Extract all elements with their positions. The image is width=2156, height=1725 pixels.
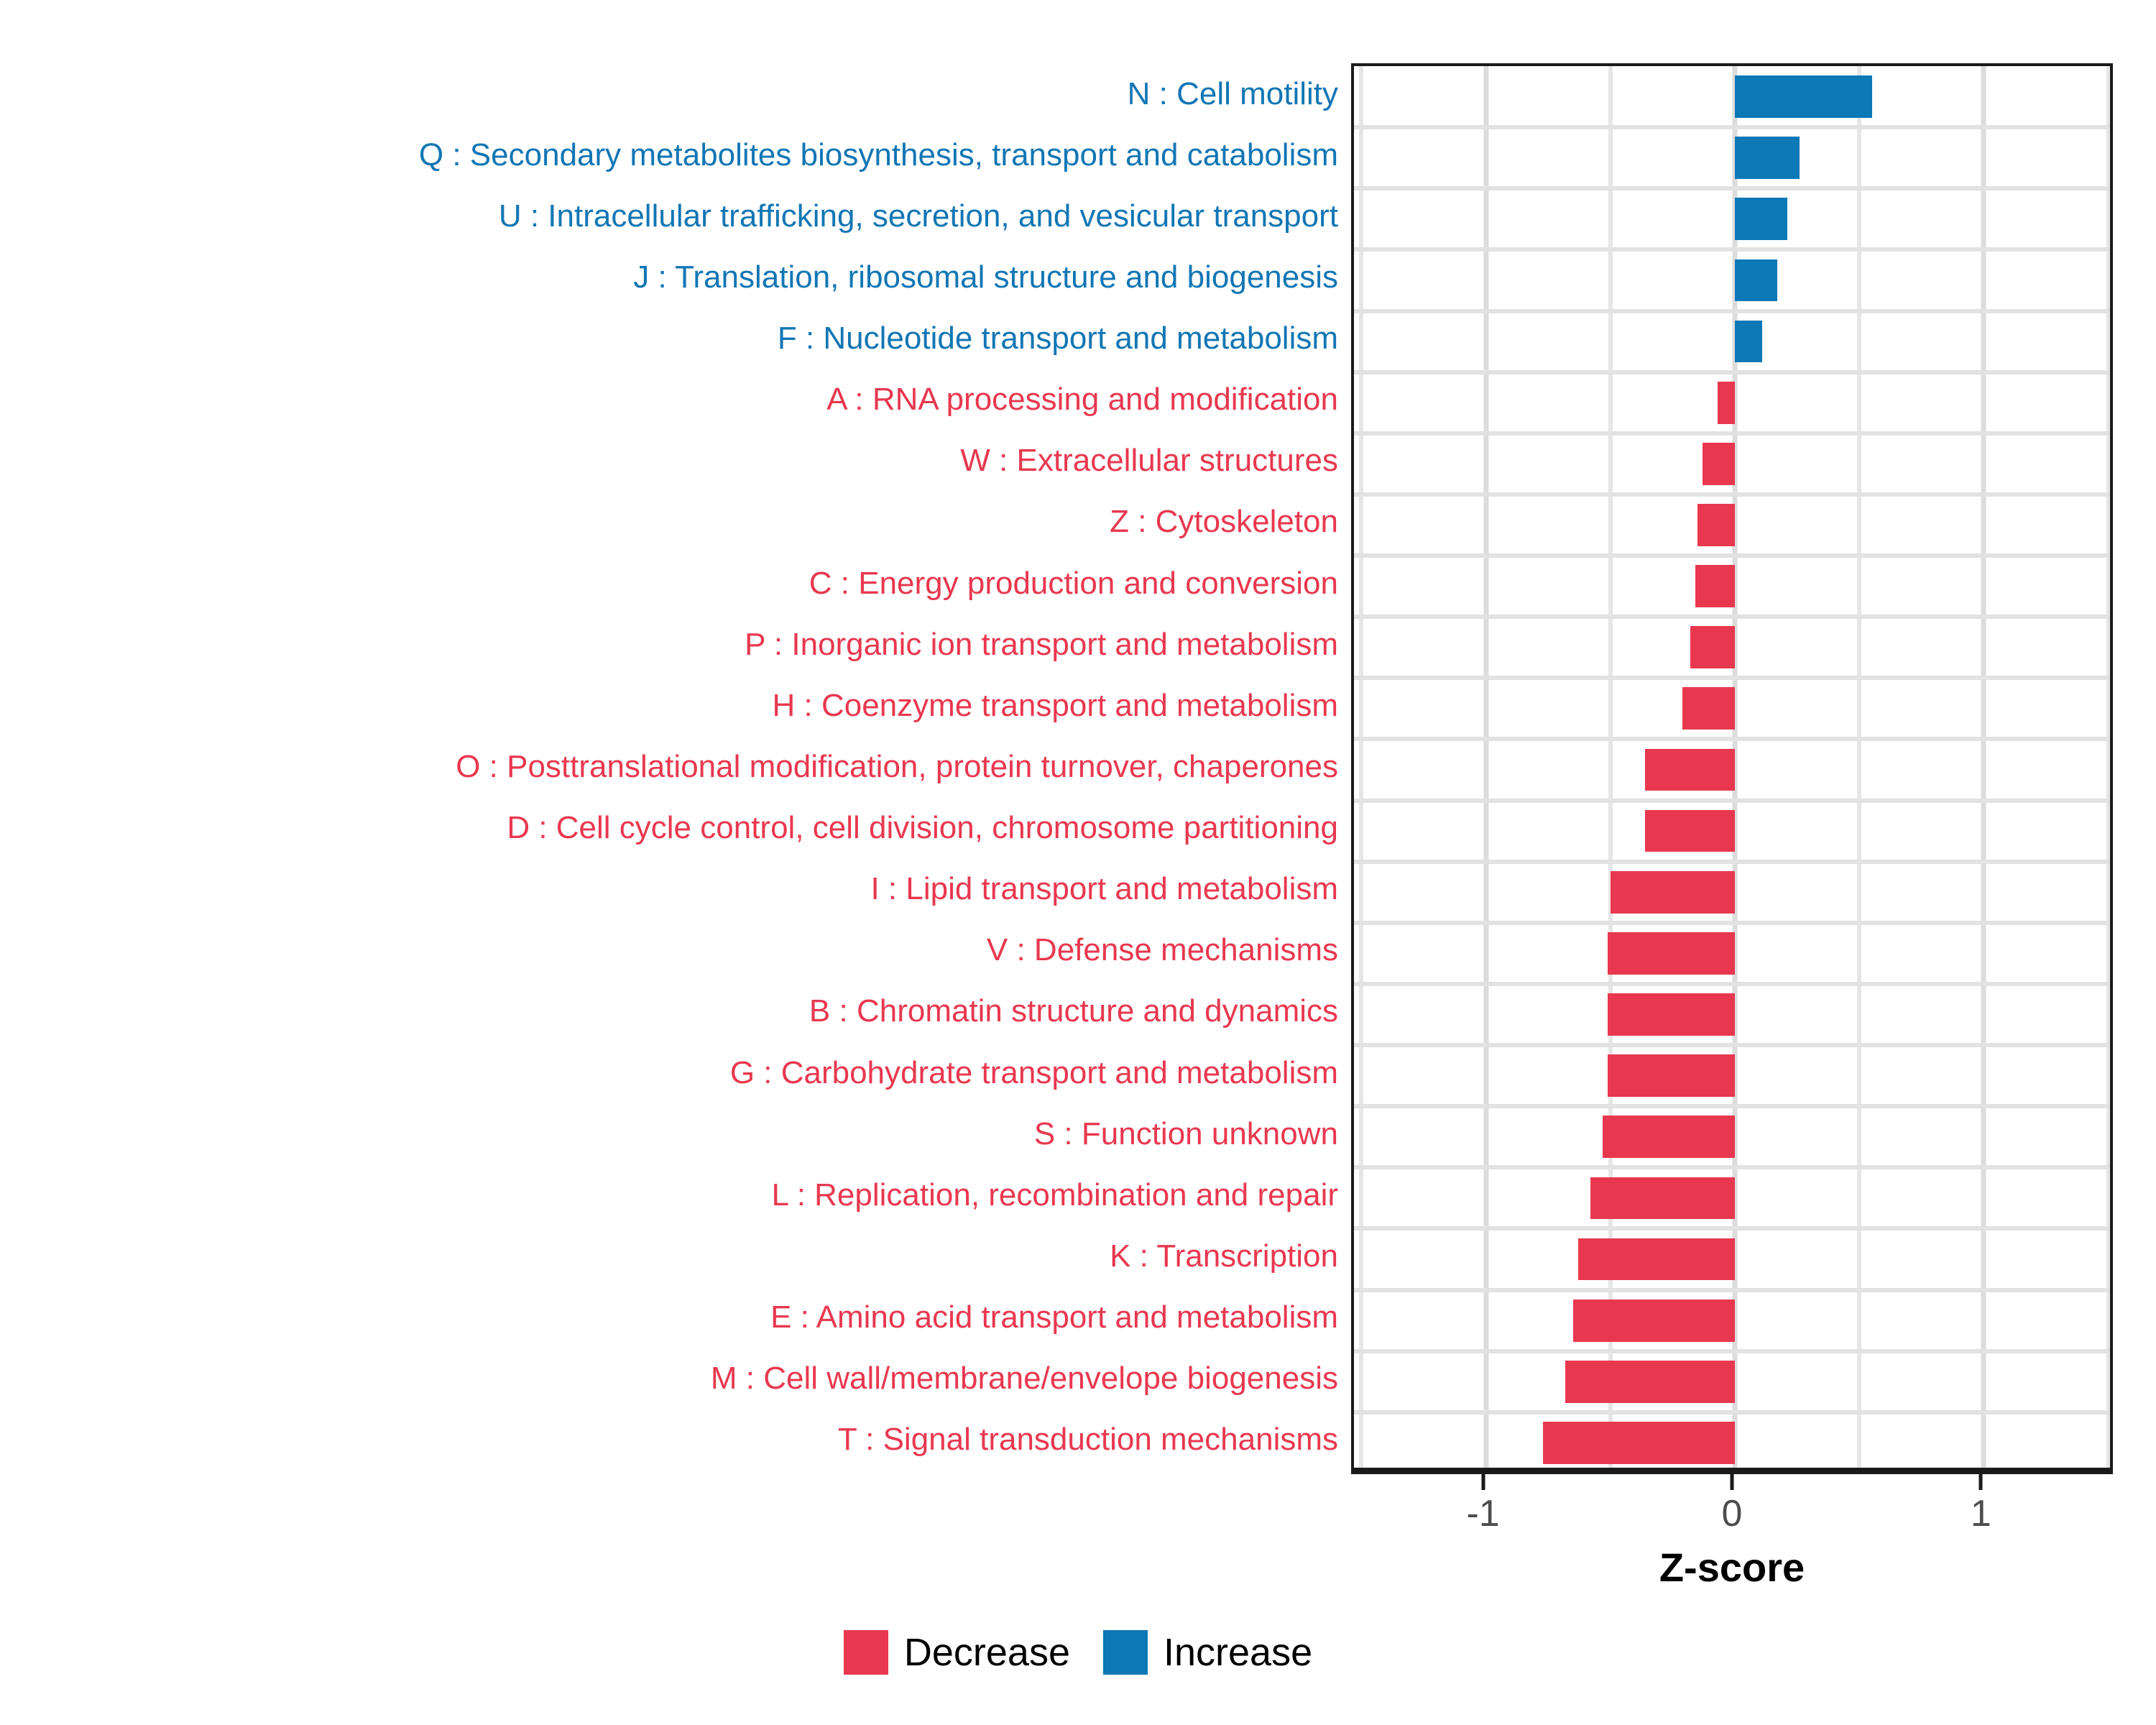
legend-item[interactable]: Increase xyxy=(1103,1630,1312,1675)
bar[interactable] xyxy=(1578,1238,1735,1281)
bar[interactable] xyxy=(1611,871,1735,914)
bar-row xyxy=(1354,188,2110,249)
bar-row xyxy=(1354,1228,2110,1289)
bar-row xyxy=(1354,1045,2110,1106)
bar[interactable] xyxy=(1573,1299,1735,1342)
category-label-row: M : Cell wall/membrane/envelope biogenes… xyxy=(0,1348,1351,1409)
category-label-row: K : Transcription xyxy=(0,1225,1351,1287)
category-label: V : Defense mechanisms xyxy=(987,934,1338,966)
bar[interactable] xyxy=(1608,932,1735,975)
category-label-row: W : Extracellular structures xyxy=(0,431,1351,492)
category-label: H : Coenzyme transport and metabolism xyxy=(773,690,1338,722)
bar[interactable] xyxy=(1645,810,1735,852)
category-label-row: N : Cell motility xyxy=(0,63,1351,124)
category-label: B : Chromatin structure and dynamics xyxy=(809,995,1338,1027)
bar[interactable] xyxy=(1735,321,1762,363)
bar[interactable] xyxy=(1735,137,1800,179)
category-label-row: U : Intracellular trafficking, secretion… xyxy=(0,185,1351,247)
category-label-row: Z : Cytoskeleton xyxy=(0,492,1351,553)
category-label-row: A : RNA processing and modification xyxy=(0,369,1351,431)
category-label: P : Inorganic ion transport and metaboli… xyxy=(745,629,1338,661)
legend-swatch xyxy=(844,1630,888,1675)
category-label-row: Q : Secondary metabolites biosynthesis, … xyxy=(0,124,1351,185)
category-label-row: V : Defense mechanisms xyxy=(0,920,1351,981)
legend: DecreaseIncrease xyxy=(0,1630,2156,1675)
bar[interactable] xyxy=(1690,626,1735,668)
bar-row xyxy=(1354,984,2110,1045)
bar-row xyxy=(1354,1412,2110,1471)
category-label: M : Cell wall/membrane/envelope biogenes… xyxy=(711,1363,1338,1394)
category-label: K : Transcription xyxy=(1110,1241,1338,1272)
bar-row xyxy=(1354,433,2110,494)
category-label-column: N : Cell motilityQ : Secondary metabolit… xyxy=(0,63,1351,1471)
category-label: L : Replication, recombination and repai… xyxy=(772,1179,1338,1211)
bar-row xyxy=(1354,923,2110,984)
category-label: D : Cell cycle control, cell division, c… xyxy=(507,812,1338,844)
category-label: I : Lipid transport and metabolism xyxy=(870,873,1338,905)
bar[interactable] xyxy=(1703,443,1735,485)
category-label: J : Translation, ribosomal structure and… xyxy=(633,262,1338,293)
plot-panel xyxy=(1351,63,2113,1471)
bar-row xyxy=(1354,1290,2110,1351)
x-axis-tick xyxy=(1481,1474,1485,1490)
bar[interactable] xyxy=(1697,504,1735,546)
category-label-row: F : Nucleotide transport and metabolism xyxy=(0,308,1351,369)
category-label: E : Amino acid transport and metabolism xyxy=(770,1302,1338,1333)
category-label: O : Posttranslational modification, prot… xyxy=(456,751,1338,783)
legend-item[interactable]: Decrease xyxy=(844,1630,1070,1675)
category-label: Q : Secondary metabolites biosynthesis, … xyxy=(419,139,1338,171)
category-label: W : Extracellular structures xyxy=(960,445,1338,477)
bar[interactable] xyxy=(1735,198,1787,240)
bar[interactable] xyxy=(1735,259,1777,302)
category-label-row: S : Function unknown xyxy=(0,1103,1351,1164)
x-axis-tick xyxy=(1979,1474,1983,1490)
bar[interactable] xyxy=(1645,749,1735,791)
category-label: G : Carbohydrate transport and metabolis… xyxy=(730,1057,1338,1089)
bar-row xyxy=(1354,127,2110,188)
category-label: N : Cell motility xyxy=(1128,78,1338,110)
category-label-row: T : Signal transduction mechanisms xyxy=(0,1409,1351,1471)
category-label: S : Function unknown xyxy=(1034,1118,1338,1150)
bar[interactable] xyxy=(1695,565,1735,607)
bar[interactable] xyxy=(1735,75,1872,118)
x-axis-tick-label: -1 xyxy=(1466,1492,1499,1535)
category-label: F : Nucleotide transport and metabolism xyxy=(778,323,1338,354)
bar-row xyxy=(1354,862,2110,923)
legend-label: Decrease xyxy=(904,1630,1070,1675)
bar-row xyxy=(1354,66,2110,127)
bar[interactable] xyxy=(1608,993,1735,1036)
category-label-row: P : Inorganic ion transport and metaboli… xyxy=(0,614,1351,675)
bar-row xyxy=(1354,494,2110,556)
bar[interactable] xyxy=(1608,1054,1735,1097)
bar-row xyxy=(1354,1106,2110,1167)
bar-row xyxy=(1354,372,2110,433)
bar-row xyxy=(1354,556,2110,617)
bar-layer xyxy=(1354,66,2110,1468)
category-label-row: L : Replication, recombination and repai… xyxy=(0,1164,1351,1225)
category-label-row: D : Cell cycle control, cell division, c… xyxy=(0,798,1351,859)
bar[interactable] xyxy=(1565,1361,1735,1403)
bar[interactable] xyxy=(1603,1115,1735,1158)
category-label-row: B : Chromatin structure and dynamics xyxy=(0,981,1351,1042)
category-label-row: I : Lipid transport and metabolism xyxy=(0,859,1351,920)
x-axis-title: Z-score xyxy=(1351,1544,2113,1591)
bar-row xyxy=(1354,678,2110,739)
category-label: A : RNA processing and modification xyxy=(826,384,1338,415)
cog-zscore-bar-chart: N : Cell motilityQ : Secondary metabolit… xyxy=(0,0,2156,1725)
category-label: Z : Cytoskeleton xyxy=(1110,506,1338,538)
bar-row xyxy=(1354,617,2110,678)
bar-row xyxy=(1354,801,2110,862)
category-label-row: J : Translation, ribosomal structure and… xyxy=(0,247,1351,308)
category-label-row: E : Amino acid transport and metabolism xyxy=(0,1287,1351,1348)
bar[interactable] xyxy=(1682,687,1735,730)
bar[interactable] xyxy=(1590,1177,1735,1220)
bar-row xyxy=(1354,249,2110,310)
category-label-row: O : Posttranslational modification, prot… xyxy=(0,736,1351,797)
category-label: U : Intracellular trafficking, secretion… xyxy=(499,201,1338,232)
legend-swatch xyxy=(1103,1630,1148,1675)
x-axis-tick-label: 0 xyxy=(1722,1492,1743,1535)
bar-row xyxy=(1354,311,2110,372)
category-label: T : Signal transduction mechanisms xyxy=(838,1424,1338,1455)
category-label-row: C : Energy production and conversion xyxy=(0,553,1351,614)
legend-label: Increase xyxy=(1164,1630,1312,1675)
category-label-row: H : Coenzyme transport and metabolism xyxy=(0,675,1351,736)
x-axis-tick xyxy=(1731,1474,1734,1490)
bar-row xyxy=(1354,1351,2110,1412)
category-label: C : Energy production and conversion xyxy=(809,568,1338,599)
bar[interactable] xyxy=(1543,1422,1735,1464)
bar[interactable] xyxy=(1718,382,1735,424)
bar-row xyxy=(1354,1167,2110,1228)
x-axis-tick-label: 1 xyxy=(1971,1492,1991,1535)
category-label-row: G : Carbohydrate transport and metabolis… xyxy=(0,1042,1351,1103)
bar-row xyxy=(1354,739,2110,800)
